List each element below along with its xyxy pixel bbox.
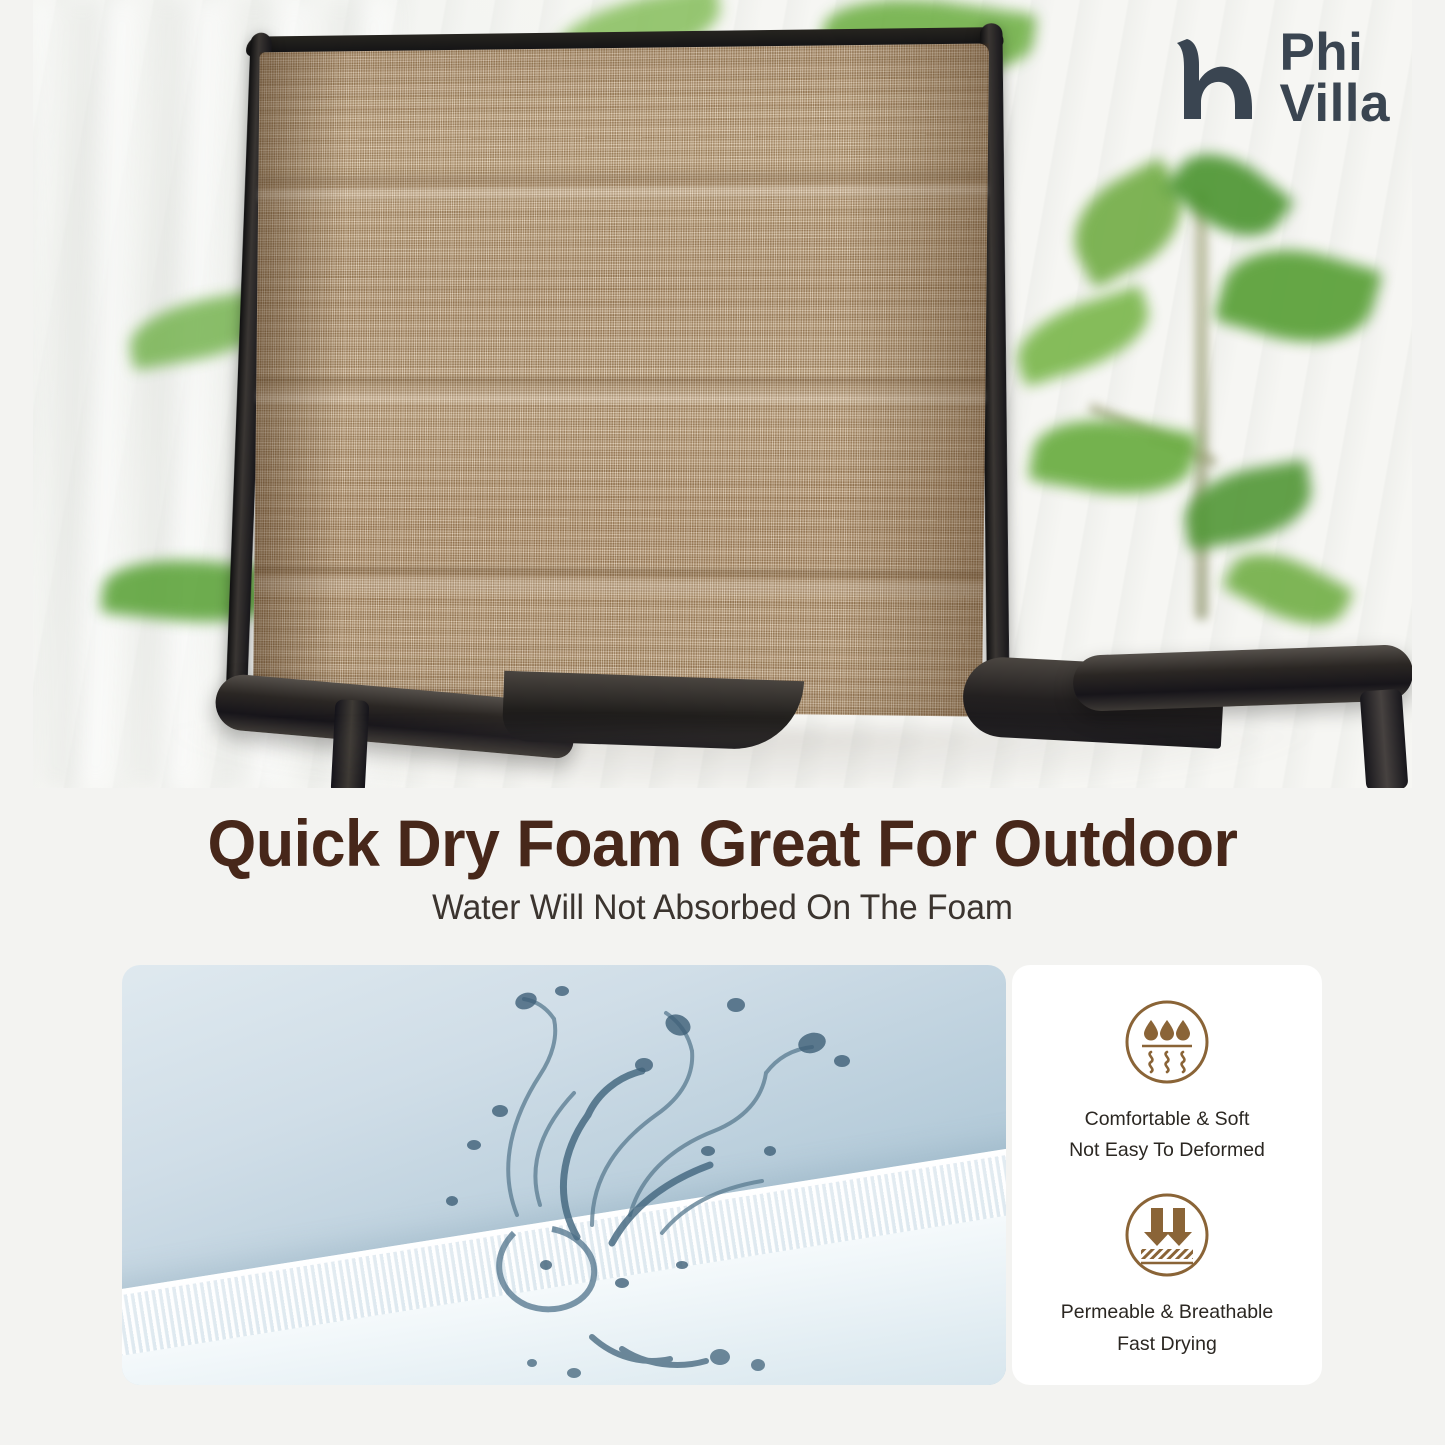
textilene-sling-fabric bbox=[253, 43, 989, 716]
phi-villa-arch-mark bbox=[1173, 31, 1265, 127]
feature-line-1: Comfortable & Soft bbox=[1069, 1104, 1265, 1136]
brand-name-line1: Phi bbox=[1279, 28, 1390, 79]
brand-name-line2: Villa bbox=[1279, 79, 1390, 130]
feature-benefits-card: Comfortable & Soft Not Easy To Deformed bbox=[1012, 965, 1322, 1385]
quilt-seam bbox=[254, 565, 983, 597]
feature-item-permeable-breathable: Permeable & Breathable Fast Drying bbox=[1061, 1183, 1273, 1360]
feature-line-1: Permeable & Breathable bbox=[1061, 1297, 1273, 1329]
chair-floor-shadow bbox=[153, 728, 1332, 788]
brand-logo: Phi Villa bbox=[1173, 28, 1390, 130]
chair-arm-support-right bbox=[1360, 689, 1409, 788]
feature-text-block: Comfortable & Soft Not Easy To Deformed bbox=[1069, 1104, 1265, 1167]
chair-backrest bbox=[231, 23, 1007, 723]
water-splash-graphic bbox=[122, 965, 1006, 1385]
feature-item-comfortable-soft: Comfortable & Soft Not Easy To Deformed bbox=[1069, 990, 1265, 1167]
headline-title: Quick Dry Foam Great For Outdoor bbox=[36, 805, 1409, 881]
feature-text-block: Permeable & Breathable Fast Drying bbox=[1061, 1297, 1273, 1360]
quilt-seam bbox=[256, 378, 986, 404]
product-infographic-page: Phi Villa Quick Dry Foam Great For Outdo… bbox=[0, 0, 1445, 1445]
feature-line-2: Not Easy To Deformed bbox=[1069, 1135, 1265, 1167]
water-splash-panel bbox=[122, 965, 1006, 1385]
downward-arrows-over-hatched-layer-icon bbox=[1115, 1183, 1219, 1287]
headline-subtitle: Water Will Not Absorbed On The Foam bbox=[29, 888, 1416, 928]
feature-line-2: Fast Drying bbox=[1061, 1329, 1273, 1361]
quilt-seam bbox=[258, 171, 988, 202]
brand-wordmark: Phi Villa bbox=[1279, 28, 1390, 130]
water-droplets-over-vents-icon bbox=[1115, 990, 1219, 1094]
